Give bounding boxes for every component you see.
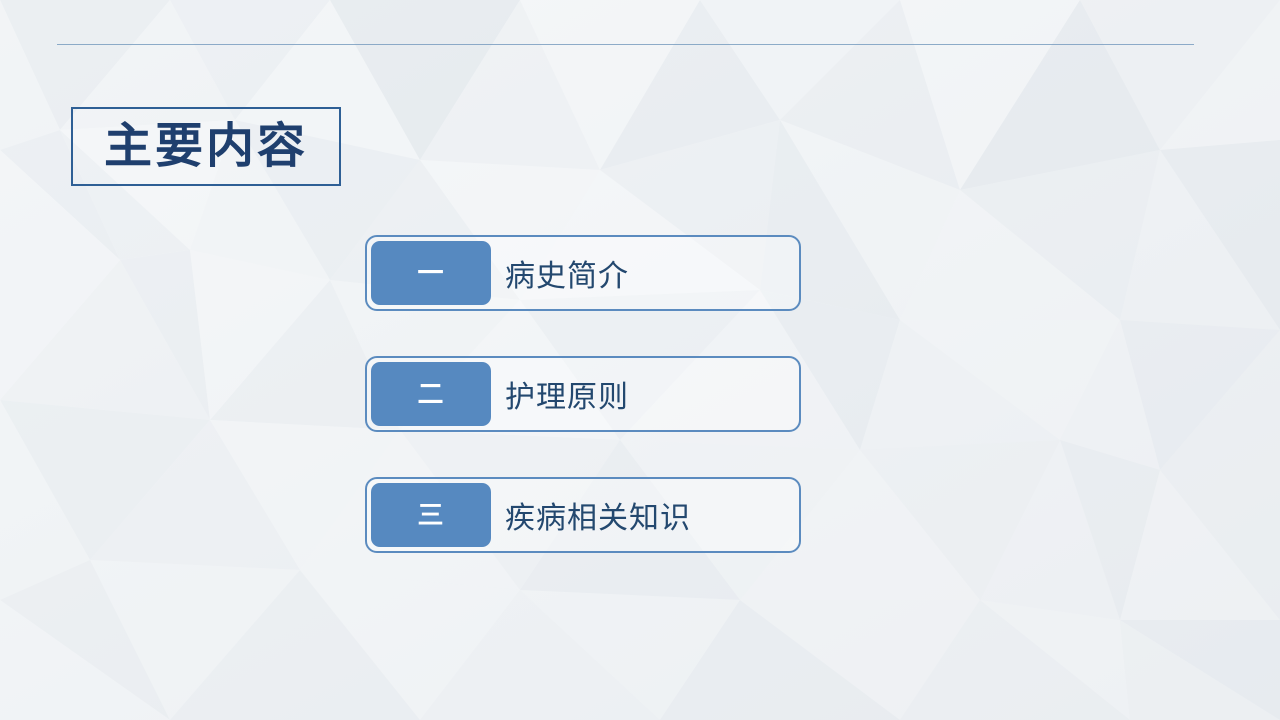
list-item-label: 疾病相关知识	[505, 479, 691, 551]
list-item-label: 护理原则	[505, 358, 629, 430]
list-item-number: 二	[417, 381, 444, 407]
list-item-badge: 三	[371, 483, 491, 547]
header-divider	[57, 44, 1194, 45]
page-title: 主要内容	[104, 123, 308, 171]
list-item[interactable]: 二 护理原则	[365, 356, 801, 432]
slide: 主要内容 一 病史简介 二 护理原则 三 疾病相关知识	[0, 0, 1280, 720]
list-item[interactable]: 一 病史简介	[365, 235, 801, 311]
list-item-number: 一	[417, 260, 444, 286]
list-item[interactable]: 三 疾病相关知识	[365, 477, 801, 553]
page-title-box: 主要内容	[71, 107, 341, 186]
list-item-number: 三	[417, 502, 444, 528]
content-list: 一 病史简介 二 护理原则 三 疾病相关知识	[365, 235, 805, 553]
list-item-badge: 二	[371, 362, 491, 426]
list-item-label: 病史简介	[505, 237, 629, 309]
list-item-badge: 一	[371, 241, 491, 305]
